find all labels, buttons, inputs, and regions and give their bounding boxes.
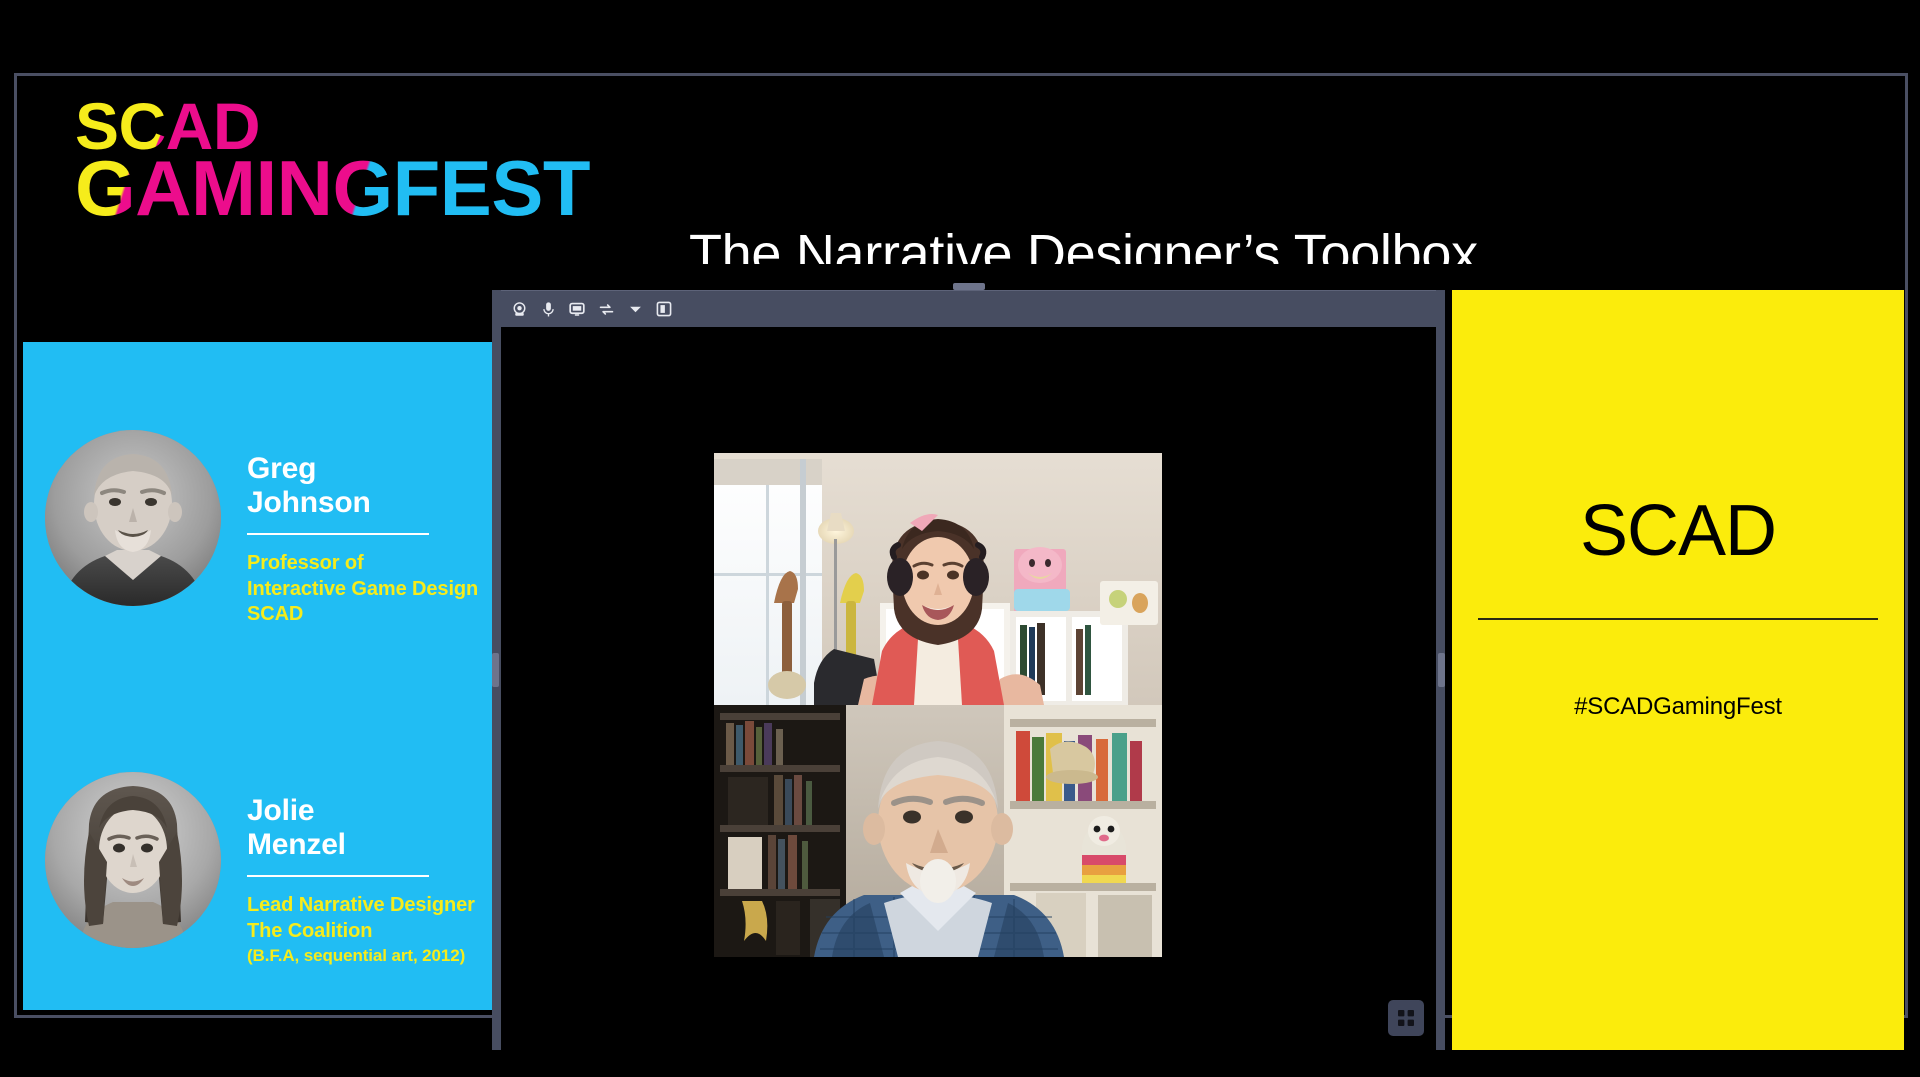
- speaker-role: Professor of Interactive Game Design SCA…: [247, 551, 493, 628]
- speaker-card: Greg Johnson Professor of Interactive Ga…: [23, 430, 493, 628]
- speaker-info: Greg Johnson Professor of Interactive Ga…: [247, 430, 493, 628]
- video-conference-window: [501, 290, 1436, 1050]
- swap-arrows-icon[interactable]: [596, 299, 616, 319]
- content-area: Greg Johnson Professor of Interactive Ga…: [17, 266, 1905, 1015]
- camera-icon[interactable]: [509, 299, 529, 319]
- speaker-card: Jolie Menzel Lead Narrative Designer The…: [23, 772, 493, 967]
- divider: [247, 533, 429, 535]
- screen-share-icon[interactable]: [567, 299, 587, 319]
- jolie-menzel-avatar: [45, 772, 221, 948]
- panel-layout-icon[interactable]: [654, 299, 674, 319]
- page-title: The Narrative Designer’s Toolbox: [689, 223, 1478, 264]
- speaker-name: Greg Johnson: [247, 452, 493, 519]
- scad-gamingfest-logo: SCAD GAMINGFEST: [75, 96, 645, 244]
- jolie-menzel-video[interactable]: [714, 453, 1162, 705]
- chevron-down-icon[interactable]: [625, 299, 645, 319]
- video-toolbar: [501, 299, 674, 319]
- logo-line-gamingfest: GAMINGFEST: [75, 153, 590, 225]
- presentation-banner: SCAD GAMINGFEST The Narrative Designer’s…: [17, 76, 1905, 264]
- brand-hashtag: #SCADGamingFest: [1452, 693, 1904, 721]
- greg-johnson-video[interactable]: [714, 705, 1162, 957]
- speaker-info: Jolie Menzel Lead Narrative Designer The…: [247, 772, 493, 967]
- speaker-note: (B.F.A, sequential art, 2012): [247, 945, 493, 966]
- speaker-role: Lead Narrative Designer The Coalition: [247, 893, 493, 944]
- grid-view-icon[interactable]: [1388, 1000, 1424, 1036]
- greg-johnson-avatar: [45, 430, 221, 606]
- speaker-name: Jolie Menzel: [247, 794, 493, 861]
- microphone-icon[interactable]: [538, 299, 558, 319]
- presentation-frame: SCAD GAMINGFEST The Narrative Designer’s…: [14, 73, 1908, 1018]
- window-resize-handle-right[interactable]: [1438, 653, 1445, 687]
- screen-root: SCAD GAMINGFEST The Narrative Designer’s…: [0, 0, 1920, 1077]
- video-stage: [501, 327, 1436, 1050]
- brand-panel: SCAD #SCADGamingFest: [1452, 290, 1904, 1050]
- window-drag-handle-top[interactable]: [953, 283, 985, 290]
- divider: [247, 875, 429, 877]
- window-resize-handle-left[interactable]: [492, 653, 499, 687]
- divider: [1478, 618, 1878, 620]
- brand-wordmark: SCAD: [1452, 490, 1904, 572]
- speaker-panel: Greg Johnson Professor of Interactive Ga…: [23, 342, 493, 1010]
- video-window-titlebar[interactable]: [501, 290, 1436, 327]
